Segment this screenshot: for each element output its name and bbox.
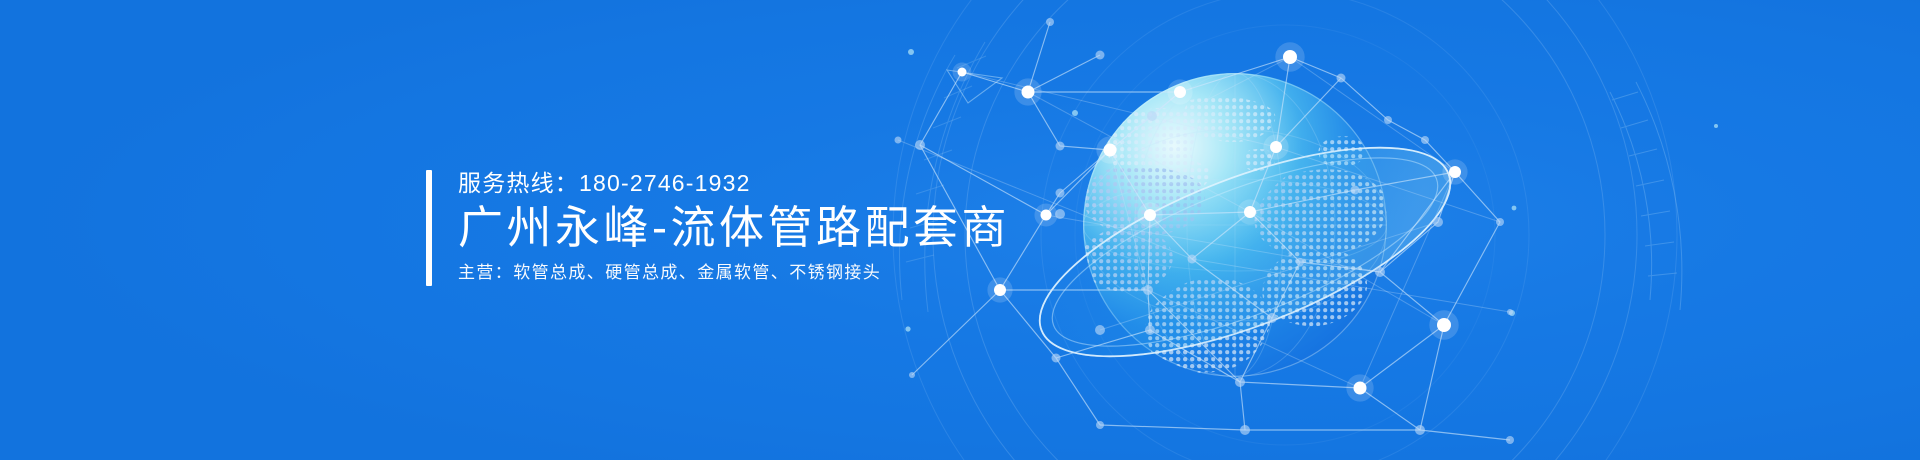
network-node — [1351, 186, 1360, 195]
network-node — [1104, 144, 1117, 157]
network-node — [1147, 111, 1157, 121]
network-node — [1354, 382, 1367, 395]
network-node — [1095, 325, 1105, 335]
network-node — [915, 140, 925, 150]
network-node — [1056, 189, 1065, 198]
network-node — [1235, 377, 1245, 387]
network-node — [1384, 116, 1392, 124]
network-node — [1052, 354, 1061, 363]
network-node — [1433, 217, 1443, 227]
network-node — [1041, 210, 1052, 221]
headline-block: 服务热线：180-2746-1932 广州永峰-流体管路配套商 主营：软管总成、… — [426, 170, 1010, 286]
network-node — [1421, 136, 1429, 144]
network-node — [1506, 436, 1514, 444]
network-node — [1144, 209, 1156, 221]
network-node — [1437, 318, 1451, 332]
network-node — [1055, 209, 1065, 219]
banner-title: 广州永峰-流体管路配套商 — [458, 202, 1010, 254]
network-node — [958, 68, 967, 77]
network-node — [1337, 74, 1346, 83]
network-node — [1096, 421, 1104, 429]
network-node — [1240, 425, 1250, 435]
network-node — [1270, 141, 1282, 153]
network-node — [1507, 309, 1513, 315]
network-node — [1188, 255, 1197, 264]
network-node — [1449, 166, 1461, 178]
promo-banner: 服务热线：180-2746-1932 广州永峰-流体管路配套商 主营：软管总成、… — [0, 0, 1920, 460]
network-node — [1096, 51, 1105, 60]
headline-text-lines: 服务热线：180-2746-1932 广州永峰-流体管路配套商 主营：软管总成、… — [458, 170, 1010, 286]
network-node — [1244, 206, 1256, 218]
banner-subtitle: 主营：软管总成、硬管总成、金属软管、不锈钢接头 — [458, 262, 1010, 284]
network-node — [1415, 425, 1425, 435]
network-node — [1145, 325, 1155, 335]
network-node — [1496, 218, 1504, 226]
network-node — [895, 137, 902, 144]
network-node — [1046, 18, 1054, 26]
service-hotline: 服务热线：180-2746-1932 — [458, 170, 1010, 196]
network-node — [1143, 285, 1153, 295]
network-node — [1174, 86, 1186, 98]
network-node — [1022, 86, 1035, 99]
accent-bar — [426, 170, 432, 286]
network-node — [1267, 313, 1277, 323]
network-node — [1375, 267, 1385, 277]
network-node — [1283, 50, 1297, 64]
network-node — [1296, 258, 1304, 266]
network-node — [909, 372, 915, 378]
network-node — [1056, 142, 1065, 151]
